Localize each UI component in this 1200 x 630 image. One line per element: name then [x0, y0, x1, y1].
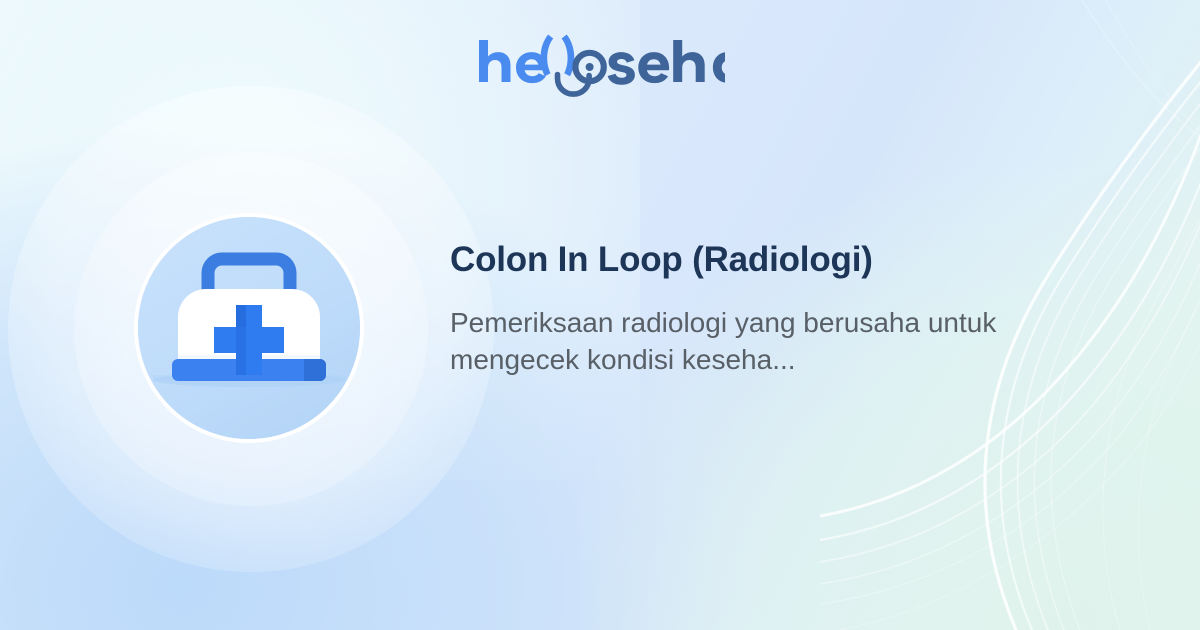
- og-share-card: Colon In Loop (Radiologi) Pemeriksaan ra…: [0, 0, 1200, 630]
- hellosehat-logo-icon: [475, 34, 725, 98]
- bag-base-shade: [304, 359, 326, 381]
- medical-bag-icon: [138, 217, 360, 439]
- card-description: Pemeriksaan radiologi yang berusaha untu…: [450, 304, 1010, 378]
- brand-logo[interactable]: [0, 34, 1200, 98]
- page-title: Colon In Loop (Radiologi): [450, 238, 1030, 282]
- card-text-block: Colon In Loop (Radiologi) Pemeriksaan ra…: [450, 238, 1030, 378]
- medical-bag-icon-badge: [134, 213, 364, 443]
